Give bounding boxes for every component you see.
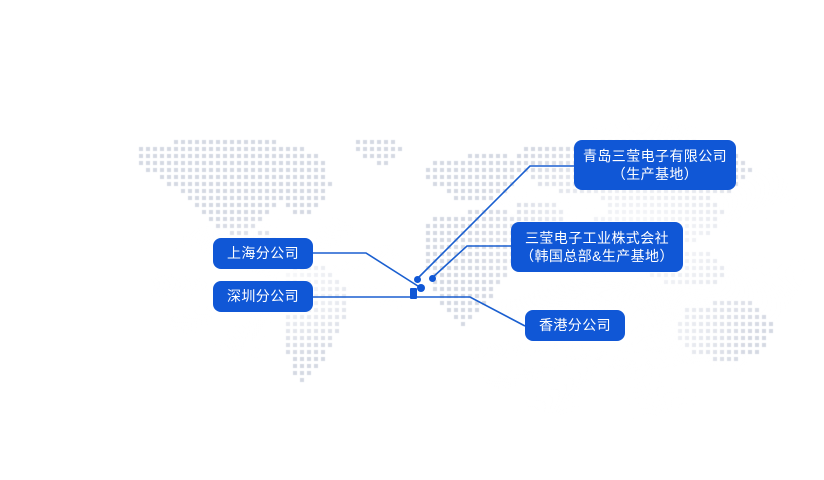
connector-lines [0, 0, 824, 480]
label-shenzhen-text: 深圳分公司 [227, 287, 299, 305]
map-marker-qingdao[interactable] [414, 276, 421, 283]
connector-shanghai [313, 253, 421, 288]
label-korea-headquarters[interactable]: 三莹电子工业株式会社 （韩国总部&生产基地） [511, 222, 683, 272]
label-shenzhen-branch[interactable]: 深圳分公司 [213, 281, 313, 312]
label-korea-line2: （韩国总部&生产基地） [520, 247, 674, 265]
world-map-infographic: 青岛三莹电子有限公司 （生产基地） 三莹电子工业株式会社 （韩国总部&生产基地）… [0, 0, 824, 480]
map-marker-korea[interactable] [429, 275, 436, 282]
label-qingdao-company[interactable]: 青岛三莹电子有限公司 （生产基地） [574, 140, 736, 190]
label-shanghai-branch[interactable]: 上海分公司 [213, 238, 313, 269]
label-korea-line1: 三莹电子工业株式会社 [525, 229, 669, 247]
label-hongkong-text: 香港分公司 [539, 316, 611, 334]
label-qingdao-line2: （生产基地） [612, 165, 698, 183]
map-marker-shanghai[interactable] [417, 284, 425, 292]
label-hongkong-branch[interactable]: 香港分公司 [525, 310, 625, 341]
connector-hongkong [416, 297, 525, 326]
label-qingdao-line1: 青岛三莹电子有限公司 [583, 147, 727, 165]
map-marker-shenzhen[interactable] [410, 288, 417, 299]
label-shanghai-text: 上海分公司 [227, 244, 299, 262]
connector-korea [432, 246, 511, 278]
